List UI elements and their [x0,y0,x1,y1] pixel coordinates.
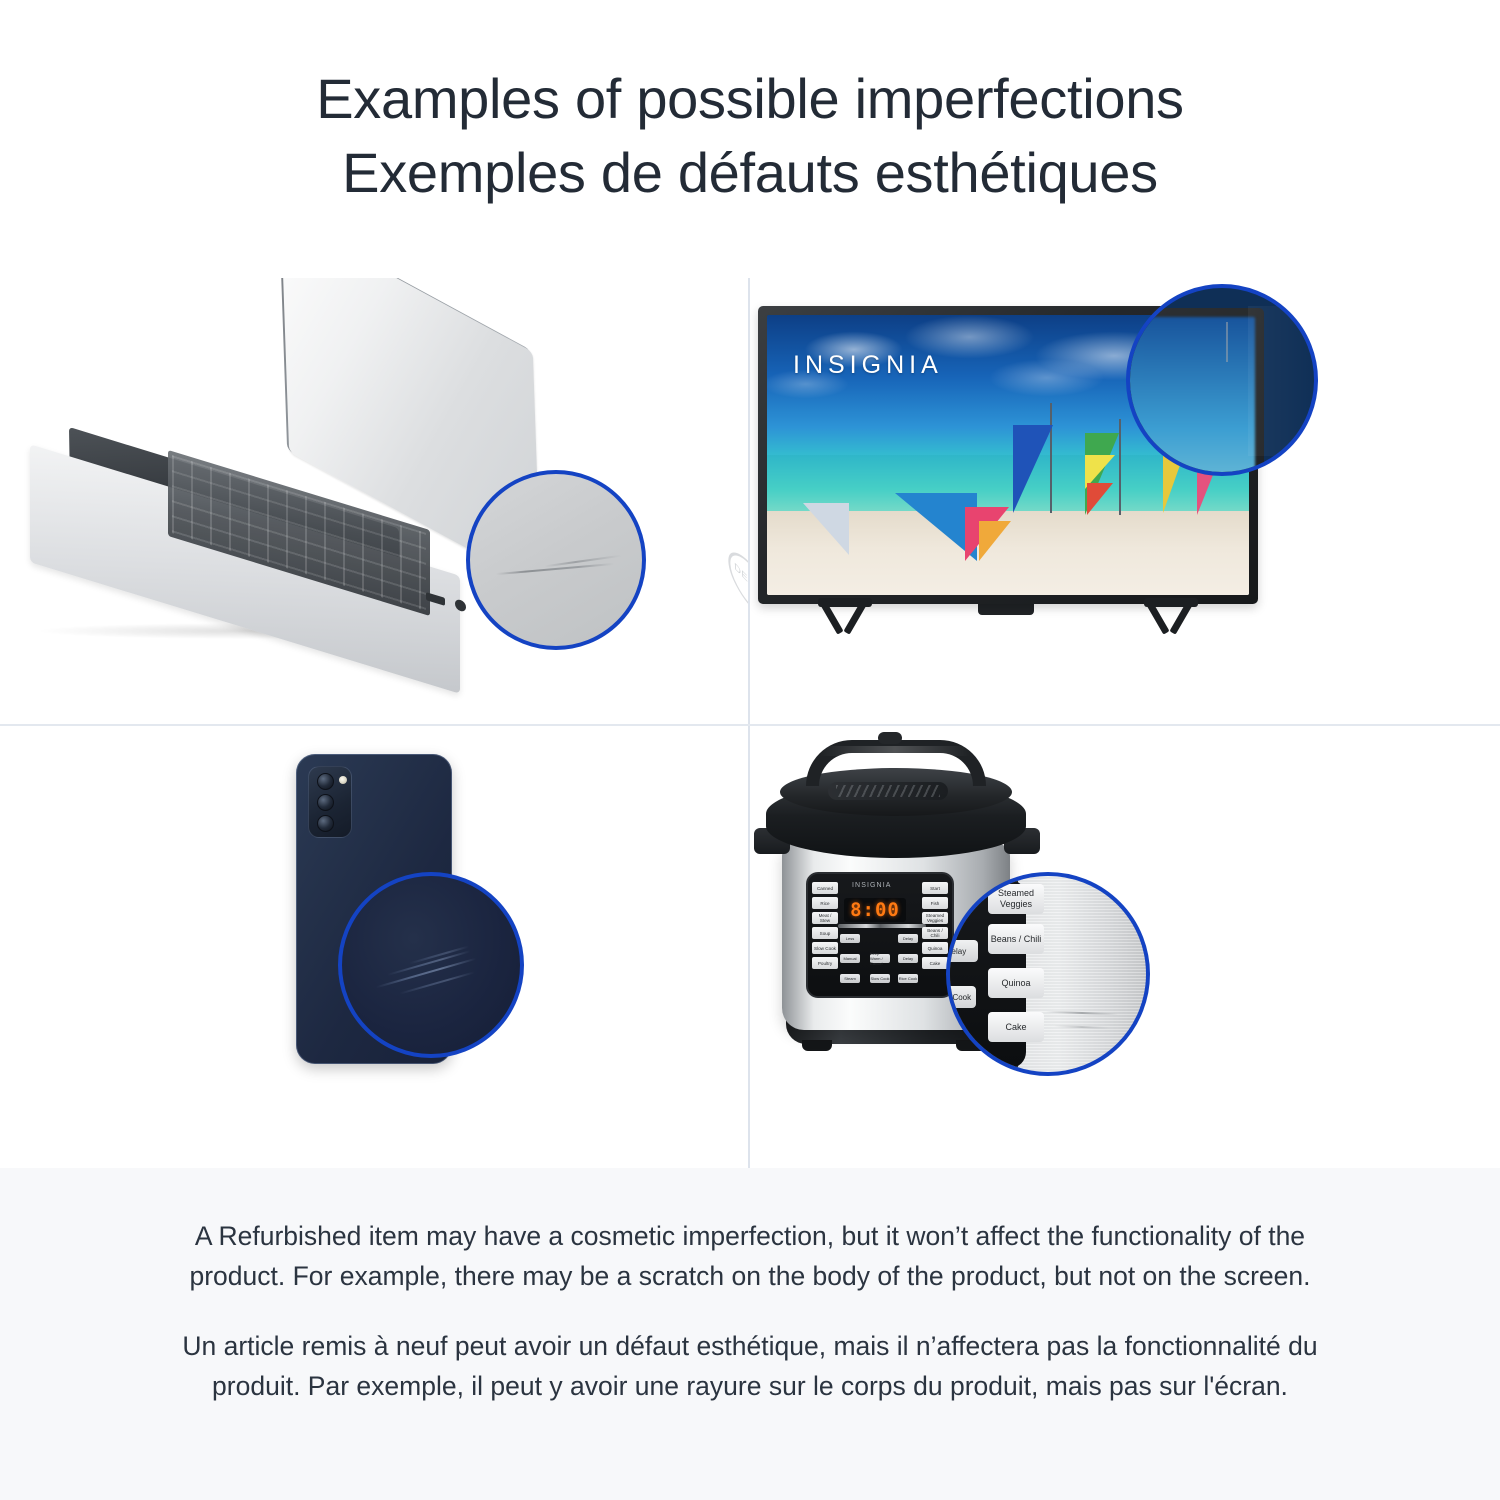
phone-illustration [0,726,748,1172]
cooker-button[interactable]: Meat / Stew [812,912,838,924]
phone-camera-lens-3 [317,815,334,832]
cooker-button[interactable]: Steamed Veggies [922,912,948,924]
example-cell-phone [0,726,748,1172]
cooker-display-value: 8:00 [850,899,900,921]
dell-logo-icon [727,539,748,632]
cooker-mid-button[interactable]: Less [840,934,860,943]
cooker-display: 8:00 [844,898,906,922]
page-title-fr: Exemples de défauts esthétiques [0,136,1500,210]
cooker-button-column-left: Canned Rice Meat / Stew Soup Slow Cook P… [812,882,838,969]
cooker-zoom-button[interactable]: Quinoa [988,968,1044,998]
example-cell-tv: INSIGNIA [750,278,1498,724]
cooker-foot-left [802,1040,832,1051]
tv-sail-mast-2 [1119,419,1121,515]
tv-sail-blue [1013,425,1053,513]
cooker-button[interactable]: Canned [812,882,838,894]
cooker-button[interactable]: Quinoa [922,942,948,954]
cooker-button[interactable]: Poultry [812,957,838,969]
cooker-mid-button[interactable]: Delay [898,934,918,943]
tv-leg-right [1138,600,1212,636]
tv-bezel-scuff-mark [1226,322,1228,362]
cooker-mid-buttons: Less Delay Manual Keep Warm / Cancel Del… [840,930,924,992]
cooker-mid-button[interactable]: Keep Warm / Cancel [870,954,890,963]
cooker-button[interactable]: Fish [922,897,948,909]
example-cell-laptop [0,278,748,724]
cooker-mid-button[interactable]: Delay [898,954,918,963]
footer-paragraph-fr: Un article remis à neuf peut avoir un dé… [180,1326,1320,1406]
tv-brand-label: INSIGNIA [793,351,943,380]
tv-callout-bezel-highlight [1248,306,1318,456]
cooker-zoom-button[interactable]: Beans / Chili [988,924,1044,954]
cooker-pressure-valve [878,732,902,744]
tv-callout-body [1126,308,1264,476]
tv-logo-bump [978,604,1034,615]
cooker-button[interactable]: Cake [922,957,948,969]
footer-paragraph-en: A Refurbished item may have a cosmetic i… [185,1216,1315,1296]
cooker-zoom-button[interactable]: Cake [988,1012,1044,1042]
tv-beach-tent-1 [803,503,849,555]
cooker-zoom-button-delay[interactable]: Delay [946,940,978,962]
tv-sail-red [1087,483,1113,515]
page-header: Examples of possible imperfections Exemp… [0,0,1500,210]
tv-illustration: INSIGNIA [750,278,1498,724]
cooker-button[interactable]: Soup [812,927,838,939]
cooker-mid-button[interactable]: Slow Cook [870,974,890,983]
cooker-indicator-bar [838,924,926,928]
laptop-illustration [0,278,748,724]
cooker-button[interactable]: Rice [812,897,838,909]
phone-scratch-callout [338,872,524,1058]
cooker-mid-button[interactable]: Steam [840,974,860,983]
cooker-mid-button[interactable]: Manual [840,954,860,963]
cooker-button-column-right: Start Fish Steamed Veggies Beans / Chili… [922,882,948,969]
example-cell-cooker: INSIGNIA 8:00 Canned Rice Meat / Stew So… [750,726,1498,1172]
phone-camera-flash-icon [339,776,347,784]
cooker-control-panel: INSIGNIA 8:00 Canned Rice Meat / Stew So… [806,872,954,998]
tv-bezel-callout [1126,284,1318,476]
cooker-button[interactable]: Beans / Chili [922,927,948,939]
cooker-zoom-button-slow-cook[interactable]: Slow Cook [946,986,976,1008]
phone-camera-module [308,766,352,838]
infographic-page: Examples of possible imperfections Exemp… [0,0,1500,1500]
tv-beach-tent-4 [979,521,1011,561]
tv-leg-left [812,600,886,636]
phone-camera-lens-2 [317,794,334,811]
cooker-button[interactable]: Start [922,882,948,894]
cooker-illustration: INSIGNIA 8:00 Canned Rice Meat / Stew So… [750,726,1498,1172]
cooker-handle-highlight [820,746,970,756]
cooker-brand-label: INSIGNIA [852,882,892,889]
cooker-zoom-button[interactable]: Steamed Veggies [988,884,1044,914]
phone-camera-lens-1 [317,773,334,790]
page-title-en: Examples of possible imperfections [0,62,1500,136]
tv-callout-screen [1126,317,1255,476]
phone-scratch-mark-3 [399,971,475,994]
laptop-scratch-callout [466,470,646,650]
cooker-mid-button[interactable]: Rice Cook [898,974,918,983]
examples-grid: INSIGNIA [0,278,1500,1168]
cooker-scratch-callout: Steamed Veggies Beans / Chili Quinoa Cak… [946,872,1150,1076]
footer-content: A Refurbished item may have a cosmetic i… [180,1168,1320,1406]
footer-panel: A Refurbished item may have a cosmetic i… [0,1168,1500,1500]
cooker-button[interactable]: Slow Cook [812,942,838,954]
